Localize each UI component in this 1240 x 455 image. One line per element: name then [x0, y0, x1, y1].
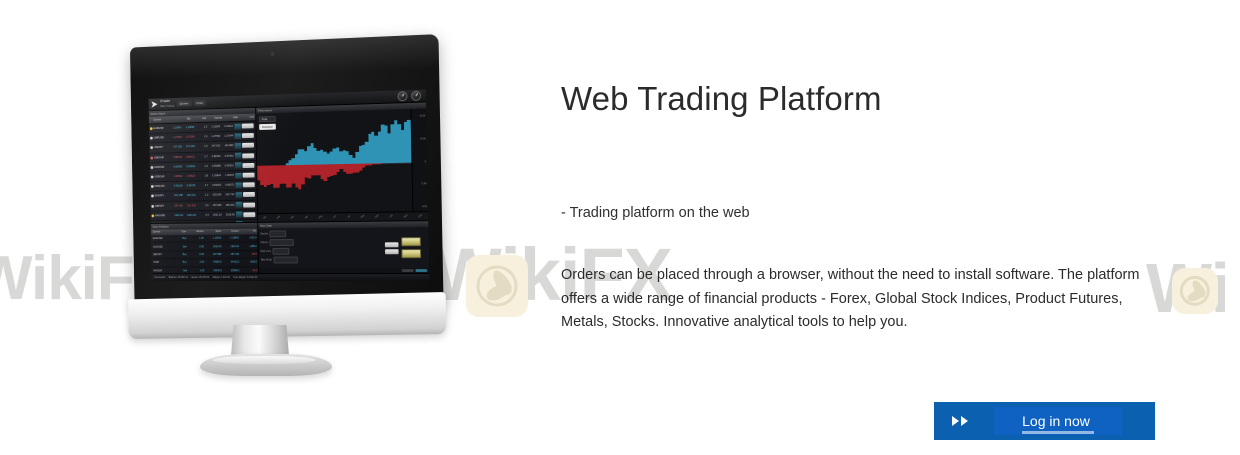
position-cell: 187.880 — [205, 253, 223, 256]
quote-status-dot-icon — [151, 214, 154, 217]
quote-status-dot-icon — [150, 147, 153, 150]
cta-underline — [1022, 431, 1094, 434]
bezel-sheen — [130, 34, 439, 80]
quote-cell: 162.744 — [223, 194, 236, 197]
ticket-field-input[interactable] — [270, 230, 287, 237]
monitor-chin — [128, 292, 446, 339]
quote-cell: 1.3 — [196, 126, 209, 129]
app-brand: iTrader Web Trading — [160, 100, 174, 108]
watermark-logo-center — [466, 255, 528, 317]
quote-cell: 0.60402 — [210, 184, 223, 187]
position-cell: Sell — [171, 269, 188, 272]
col-ask: Ask — [192, 115, 208, 122]
app-main-row: Market Watch Symbol Bid Ask Spread High … — [149, 102, 428, 223]
ticket-field-input[interactable] — [270, 239, 294, 246]
page-title: Web Trading Platform — [561, 80, 1171, 119]
double-play-arrow-icon — [952, 416, 968, 426]
quote-cell: 1.27334 — [183, 136, 196, 139]
quote-sparkline — [236, 192, 243, 198]
status-item: Equity: 26 150.32 — [192, 276, 210, 279]
quote-cell: 0.65492 — [171, 165, 184, 168]
dial-group — [398, 91, 424, 102]
quote-sparkline — [235, 143, 242, 149]
quote-cell: 1931.20 — [210, 213, 223, 216]
quote-cell: USDCHF — [154, 156, 171, 159]
position-cell: 1.10842 — [222, 237, 240, 240]
monitor-illustration: iTrader Web Trading Quotes Chart — [104, 34, 444, 366]
quote-status-dot-icon — [151, 166, 154, 169]
col-bid: Bid — [176, 116, 192, 123]
quote-cell: 0.87962 — [222, 154, 235, 157]
quote-trade-button[interactable] — [242, 143, 254, 148]
quote-cell: 187.442 — [171, 204, 184, 207]
position-cell: 1.00 — [188, 269, 205, 272]
ticket-field-input[interactable] — [273, 257, 297, 264]
quote-cell: 0.65310 — [222, 164, 235, 167]
promo-banner: WikiFX WikiFX Wi iTrader Web Trading — [0, 0, 1240, 455]
quote-cell: EURJPY — [155, 195, 172, 198]
position-row[interactable]: US30Buy2.0034280.034412.5+265.0 — [151, 259, 258, 267]
quote-status-dot-icon — [151, 205, 154, 208]
monitor-screen: iTrader Web Trading Quotes Chart — [149, 90, 430, 282]
position-cell: Buy — [170, 261, 187, 264]
quote-cell: AUDUSD — [154, 166, 171, 169]
quote-cell: 1.8 — [196, 175, 209, 178]
app-subtitle: Web Trading — [160, 104, 174, 108]
position-cell: 1.00 — [187, 237, 204, 240]
status-item: Balance: 25 480.12 — [169, 276, 188, 279]
position-cell: 1924.64 — [222, 245, 240, 248]
status-item: Free Margin: 24 910.32 — [233, 276, 257, 279]
quote-cell: 0.60072 — [222, 184, 235, 187]
position-cell: -58.6 — [240, 253, 258, 256]
quote-cell: 1.35620 — [184, 175, 197, 178]
position-cell: +222.0 — [240, 237, 258, 240]
log-in-now-button[interactable]: Log in now — [934, 402, 1155, 440]
quote-cell: 1.35602 — [171, 175, 184, 178]
quote-status-dot-icon — [150, 127, 153, 130]
quote-cell: GBPUSD — [154, 136, 171, 139]
position-cell: 34412.5 — [223, 261, 241, 264]
quote-cell: GBPJPY — [155, 204, 172, 207]
ticket-field: Stop Loss — [260, 247, 382, 254]
quote-cell: 1.27590 — [209, 135, 222, 138]
tab-chart[interactable]: Chart — [194, 100, 206, 106]
quote-cell: 1.6 — [196, 135, 209, 138]
position-cell: +265.0 — [240, 261, 258, 264]
quote-cell: 187.960 — [210, 204, 223, 207]
ticket-field: Symbol — [260, 230, 382, 238]
chart-area: Profit Drawdown +6.0k+3.0k0-3.0k-6.0k — [256, 108, 428, 213]
quote-cell: 163.540 — [210, 194, 223, 197]
copy-block: Web Trading Platform - Trading platform … — [561, 80, 1171, 119]
ticket-button-2[interactable] — [385, 249, 399, 254]
quote-cell: 3.4 — [197, 214, 210, 217]
quote-cell: 1.4 — [196, 165, 209, 168]
status-item: Margin: 1 240.00 — [213, 276, 230, 279]
quote-cell: 187.478 — [184, 204, 197, 207]
ticket-field-label: Symbol — [260, 232, 268, 235]
order-ticket-panel: New Order SymbolVolumeStop LossTake Prof… — [258, 221, 429, 273]
quote-cell: 2.2 — [197, 194, 210, 197]
ticket-field-label: Volume — [260, 241, 268, 244]
buy-button[interactable] — [401, 237, 421, 246]
quote-status-dot-icon — [150, 137, 153, 140]
position-cell: 0.20 — [188, 253, 205, 256]
description: Orders can be placed through a browser, … — [561, 264, 1161, 335]
quote-cell: 0.65688 — [209, 164, 222, 167]
quote-cell: 1.7 — [197, 184, 210, 187]
quote-cell: 1.35844 — [209, 174, 222, 177]
quote-cell: 0.65506 — [184, 165, 197, 168]
quote-cell: 1.3 — [196, 145, 209, 148]
quote-sparkline — [235, 172, 242, 178]
app-bottom-row: Open Positions Symbol Type Volume Open C… — [151, 220, 429, 273]
cta-label: Log in now — [996, 413, 1116, 429]
app-logo-icon — [151, 101, 157, 108]
quote-trade-button[interactable] — [243, 173, 255, 178]
ticket-field-label: Take Profit — [261, 259, 272, 262]
quote-cell: 0.88104 — [171, 156, 184, 159]
quote-cell: 1.35376 — [222, 174, 235, 177]
order-ticket-body: SymbolVolumeStop LossTake Profit — [258, 227, 429, 268]
quote-cell: 147.226 — [170, 146, 183, 149]
position-cell: 0.50 — [187, 245, 204, 248]
position-cell: 34280.0 — [205, 261, 223, 264]
ticket-field: Volume — [260, 238, 382, 246]
market-watch-panel: Market Watch Symbol Bid Ask Spread High … — [149, 108, 258, 223]
position-cell: 187.442 — [222, 253, 240, 256]
quote-cell: 1.10855 — [183, 126, 196, 129]
order-ticket-fields[interactable]: SymbolVolumeStop LossTake Profit — [260, 230, 382, 267]
chart-panel: Performance Profit Drawdown — [256, 102, 428, 221]
chart-y-tick: -6.0k — [421, 205, 427, 208]
tagline: - Trading platform on the web — [561, 205, 750, 221]
quote-sparkline — [236, 212, 243, 218]
quote-trade-button[interactable] — [242, 123, 254, 128]
col-high: High — [223, 114, 239, 121]
legend-profit: Profit — [259, 116, 276, 122]
quote-cell: 186.920 — [223, 203, 236, 206]
quote-status-dot-icon — [150, 156, 153, 159]
chart-y-tick: -3.0k — [421, 182, 426, 185]
position-cell: EURUSD — [151, 237, 170, 240]
quote-cell: 0.60235 — [184, 184, 197, 187]
quote-trade-button[interactable] — [242, 133, 254, 138]
ticket-field-input[interactable] — [273, 248, 290, 255]
monitor-stand-foot-highlight — [212, 356, 316, 364]
quote-sparkline — [235, 163, 242, 169]
quote-cell: 147.239 — [183, 146, 196, 149]
col-symbol: Symbol — [149, 116, 176, 123]
quote-sparkline — [235, 153, 242, 159]
chart-legend: Profit Drawdown — [259, 116, 276, 130]
quote-cell: 163.188 — [171, 194, 184, 197]
position-cell: 15040.0 — [205, 269, 223, 272]
status-item: Connected — [154, 276, 165, 279]
position-cell: 1930.40 — [205, 245, 223, 248]
quote-cell: EURUSD — [153, 127, 170, 130]
quote-sparkline — [234, 133, 241, 139]
gauge-dial-2-icon[interactable] — [411, 91, 421, 101]
quote-cell: NZDUSD — [155, 185, 172, 188]
quote-cell: 1924.64 — [172, 214, 185, 217]
footer-chip-1 — [402, 269, 414, 272]
quote-cell: XAUUSD — [155, 214, 172, 217]
quote-cell: 0.88310 — [209, 155, 222, 158]
quote-trade-button[interactable] — [243, 183, 255, 188]
position-cell: 1.10620 — [205, 237, 223, 240]
quote-cell: 3.6 — [197, 204, 210, 207]
sell-button[interactable] — [401, 249, 421, 258]
market-watch-rows[interactable]: EURUSD1.108421.108551.31.110241.10612GBP… — [149, 121, 257, 223]
quote-cell: 146.880 — [222, 145, 235, 148]
chart-y-tick: +3.0k — [420, 137, 426, 140]
ticket-side-buttons[interactable] — [385, 229, 399, 266]
open-positions-rows[interactable]: EURUSDBuy1.001.106201.10842+222.0XAUUSDS… — [151, 234, 258, 273]
position-cell: US30 — [151, 261, 170, 264]
position-cell: 15086.2 — [223, 269, 241, 272]
position-cell: -46.2 — [240, 269, 258, 272]
quote-status-dot-icon — [151, 185, 154, 188]
wikifx-swirl-icon — [477, 266, 518, 307]
gauge-dial-1-icon[interactable] — [398, 91, 408, 101]
position-cell: Sell — [170, 245, 187, 248]
tab-quotes[interactable]: Quotes — [177, 100, 191, 106]
quote-sparkline — [235, 182, 242, 188]
quote-trade-button[interactable] — [243, 202, 255, 207]
position-cell: +288.0 — [240, 245, 258, 248]
quote-cell: 1.10612 — [221, 125, 234, 128]
wikifx-swirl-icon — [1180, 276, 1210, 306]
quote-cell: 1918.06 — [223, 213, 236, 216]
quote-cell: USDCAD — [154, 175, 171, 178]
watermark-logo-right — [1172, 268, 1218, 314]
quote-cell: 1.27318 — [170, 136, 183, 139]
app-status-bar: ConnectedBalance: 25 480.12Equity: 26 15… — [152, 273, 430, 281]
quote-cell: 1924.98 — [184, 214, 197, 217]
quote-cell: 163.210 — [184, 194, 197, 197]
position-cell: Buy — [170, 253, 187, 256]
quote-cell: 1.11024 — [208, 125, 221, 128]
chart-y-axis: +6.0k+3.0k0-3.0k-6.0k — [410, 108, 428, 211]
chart-y-tick: 0 — [425, 160, 426, 163]
open-positions-panel: Open Positions Symbol Type Volume Open C… — [151, 223, 259, 273]
ticket-action-buttons[interactable] — [401, 229, 427, 266]
col-low: Low — [239, 114, 255, 121]
position-cell: 2.00 — [188, 261, 205, 264]
quote-trade-button[interactable] — [242, 163, 254, 168]
ticket-field: Take Profit — [261, 256, 383, 263]
footer-chip-2 — [415, 269, 427, 272]
chart-plot[interactable]: Profit Drawdown — [256, 109, 412, 213]
position-cell: NAS100 — [152, 269, 171, 272]
quote-cell: 0.60218 — [171, 185, 184, 188]
chart-y-tick: +6.0k — [419, 115, 425, 118]
ticket-button-1[interactable] — [385, 242, 399, 247]
quote-cell: 1.7 — [196, 155, 209, 158]
chart-bars — [256, 109, 412, 213]
quote-cell: 147.612 — [209, 145, 222, 148]
quote-trade-button[interactable] — [243, 192, 255, 197]
quote-cell: 1.27044 — [222, 135, 235, 138]
col-spread: Spread — [207, 115, 223, 122]
quote-trade-button[interactable] — [243, 212, 255, 217]
trading-platform-app: iTrader Web Trading Quotes Chart — [149, 90, 430, 282]
monitor-bezel: iTrader Web Trading Quotes Chart — [130, 34, 444, 304]
position-cell: GBPJPY — [151, 253, 170, 256]
legend-drawdown: Drawdown — [259, 124, 276, 130]
chart-x-tick: Apr — [299, 211, 315, 222]
quote-status-dot-icon — [151, 176, 154, 179]
position-cell: XAUUSD — [151, 245, 170, 248]
quote-cell: 1.10842 — [170, 126, 183, 129]
ticket-field-label: Stop Loss — [261, 250, 271, 253]
quote-cell: 0.88121 — [183, 155, 196, 158]
quote-sparkline — [236, 202, 243, 208]
position-cell: Buy — [170, 237, 187, 240]
quote-trade-button[interactable] — [242, 153, 254, 158]
quote-cell: USDJPY — [154, 146, 171, 149]
quote-status-dot-icon — [151, 195, 154, 198]
quote-sparkline — [234, 123, 241, 129]
